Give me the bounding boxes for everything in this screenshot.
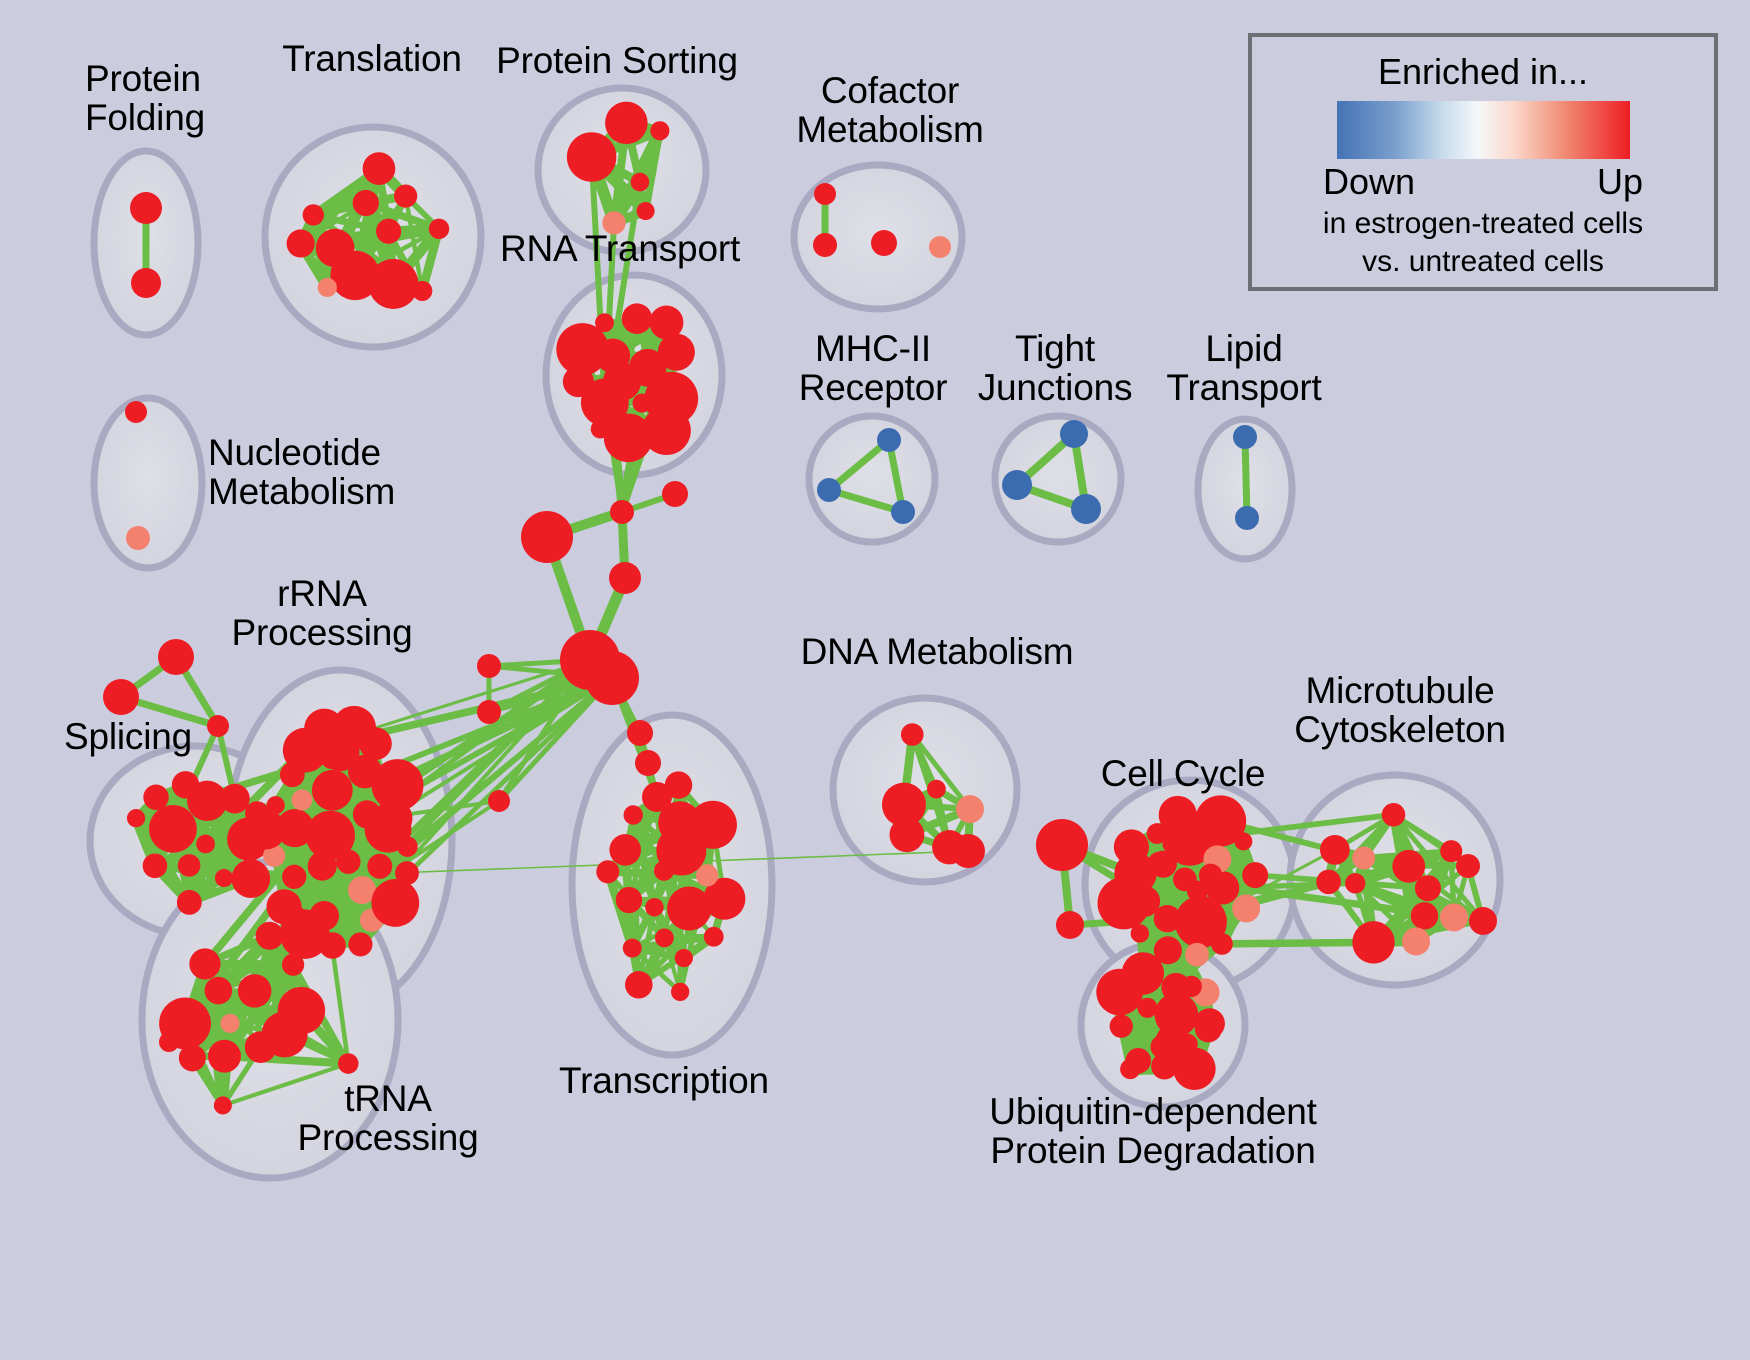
legend-colorbar [1337,101,1630,159]
network-node[interactable] [1155,993,1199,1037]
network-node[interactable] [208,1040,241,1073]
network-node[interactable] [1098,877,1150,929]
cluster-label-rna-transport: RNA Transport [500,230,740,269]
network-node[interactable] [1235,506,1259,530]
network-node[interactable] [642,782,672,812]
network-node[interactable] [1411,902,1438,929]
cluster-label-protein-folding: Protein Folding [85,60,205,138]
network-node[interactable] [130,192,162,224]
cluster-label-nucleotide-metabolism: Nucleotide Metabolism [208,434,395,512]
network-node[interactable] [650,121,669,140]
network-node[interactable] [1242,862,1268,888]
network-node[interactable] [689,801,737,849]
network-node[interactable] [177,890,202,915]
network-node[interactable] [704,927,724,947]
network-edge [1245,437,1247,518]
network-node[interactable] [1177,1034,1198,1055]
cluster-label-splicing: Splicing [64,718,192,757]
network-node[interactable] [214,1096,232,1114]
network-node[interactable] [280,905,308,933]
network-node[interactable] [623,939,642,958]
network-node[interactable] [609,562,641,594]
network-node[interactable] [488,790,510,812]
network-node[interactable] [956,795,984,823]
network-node[interactable] [671,983,689,1001]
cluster-label-protein-sorting: Protein Sorting [496,42,738,81]
cluster-label-dna-metabolism: DNA Metabolism [801,633,1074,672]
network-node[interactable] [1056,911,1084,939]
network-node[interactable] [901,723,924,746]
network-node[interactable] [367,854,392,879]
network-node[interactable] [642,406,691,455]
network-node[interactable] [1194,1008,1225,1039]
network-node[interactable] [655,928,674,947]
network-node[interactable] [1232,894,1260,922]
network-node[interactable] [143,853,168,878]
network-node[interactable] [591,419,610,438]
network-node[interactable] [871,230,897,256]
network-node[interactable] [1382,803,1406,827]
network-node[interactable] [477,700,501,724]
network-node[interactable] [231,859,270,898]
network-node[interactable] [635,750,661,776]
network-node[interactable] [1415,875,1441,901]
network-node[interactable] [365,806,412,853]
network-node[interactable] [1352,921,1394,963]
network-node[interactable] [353,190,379,216]
network-node[interactable] [645,898,663,916]
network-node[interactable] [596,860,619,883]
cluster-label-microtubule-cytoskeleton: Microtubule Cytoskeleton [1294,672,1506,750]
network-node[interactable] [1185,943,1209,967]
network-node[interactable] [1148,852,1171,875]
network-node[interactable] [1469,907,1497,935]
network-node[interactable] [189,948,220,979]
network-node[interactable] [927,780,946,799]
network-node[interactable] [371,879,419,927]
network-node[interactable] [1159,796,1197,834]
network-node[interactable] [1233,425,1257,449]
legend-caption-line2: vs. untreated cells [1252,245,1714,279]
network-node[interactable] [1162,835,1180,853]
network-node[interactable] [1110,1015,1133,1038]
network-node[interactable] [1120,1059,1140,1079]
network-node[interactable] [429,219,449,239]
network-node[interactable] [556,323,608,375]
cluster-label-cofactor-metabolism: Cofactor Metabolism [796,72,983,150]
network-node[interactable] [1320,835,1350,865]
network-node[interactable] [220,1014,239,1033]
network-node[interactable] [603,363,641,401]
network-node[interactable] [143,784,168,809]
network-node[interactable] [291,789,312,810]
network-edge [1222,942,1374,944]
network-node[interactable] [178,854,201,877]
network-node[interactable] [1234,832,1252,850]
network-node[interactable] [616,887,642,913]
cluster-label-mhc-ii-receptor: MHC-II Receptor [799,330,948,408]
network-node[interactable] [813,233,837,257]
network-node[interactable] [1114,829,1149,864]
network-node[interactable] [238,974,272,1008]
network-node[interactable] [316,229,355,268]
network-node[interactable] [394,184,417,207]
network-node[interactable] [149,805,197,853]
network-node[interactable] [610,500,634,524]
network-node[interactable] [1175,896,1227,948]
network-node[interactable] [332,706,376,750]
network-node[interactable] [631,173,650,192]
legend-box: Enriched in... Down Up in estrogen-treat… [1248,33,1718,291]
network-node[interactable] [1402,927,1430,955]
network-node[interactable] [624,805,643,824]
network-node[interactable] [929,236,951,258]
network-node[interactable] [282,954,304,976]
network-node[interactable] [1071,494,1101,524]
network-node[interactable] [246,810,286,850]
cluster-label-rrna-processing: rRNA Processing [231,575,412,653]
network-node[interactable] [256,922,284,950]
network-node[interactable] [158,639,194,675]
network-node[interactable] [1096,969,1143,1016]
network-node[interactable] [622,303,653,334]
network-node[interactable] [187,781,227,821]
network-node[interactable] [125,401,147,423]
cluster-label-lipid-transport: Lipid Transport [1166,330,1321,408]
network-node[interactable] [131,268,161,298]
network-node[interactable] [891,500,915,524]
legend-low-label: Down [1323,161,1415,203]
network-node[interactable] [318,278,337,297]
network-node[interactable] [877,428,901,452]
network-node[interactable] [348,932,372,956]
network-node[interactable] [675,949,693,967]
network-node[interactable] [609,834,641,866]
network-node[interactable] [1060,420,1088,448]
network-node[interactable] [303,204,324,225]
network-node[interactable] [336,850,360,874]
network-node[interactable] [1036,819,1088,871]
cluster-label-trna-processing: tRNA Processing [297,1080,478,1158]
network-node[interactable] [817,478,841,502]
legend-title: Enriched in... [1252,51,1714,93]
network-node[interactable] [521,511,573,563]
network-node[interactable] [196,835,215,854]
network-node[interactable] [1151,1034,1176,1059]
network-node[interactable] [287,229,315,257]
cluster-label-tight-junctions: Tight Junctions [978,330,1133,408]
network-node[interactable] [376,219,401,244]
cluster-label-ubiquitin-protein-degradation: Ubiquitin-dependent Protein Degradation [989,1093,1316,1171]
network-node[interactable] [1180,976,1201,997]
legend-high-label: Up [1597,161,1643,203]
network-node[interactable] [1456,854,1480,878]
cluster-label-transcription: Transcription [559,1062,769,1101]
network-node[interactable] [814,183,836,205]
network-node[interactable] [205,977,233,1005]
network-node[interactable] [1199,864,1222,887]
network-node[interactable] [1345,873,1365,893]
network-node[interactable] [889,817,924,852]
network-node[interactable] [395,861,419,885]
network-node[interactable] [1440,903,1468,931]
network-node[interactable] [179,1044,206,1071]
cluster-label-translation: Translation [282,40,461,79]
network-node[interactable] [412,281,432,301]
network-node[interactable] [585,651,639,705]
network-node[interactable] [1352,847,1375,870]
network-node[interactable] [126,526,150,550]
network-node[interactable] [951,834,985,868]
network-node[interactable] [1002,470,1032,500]
network-node[interactable] [1316,870,1341,895]
network-node[interactable] [477,654,501,678]
network-node[interactable] [363,152,396,185]
network-node[interactable] [605,102,648,145]
cluster-label-cell-cycle: Cell Cycle [1101,755,1266,794]
network-node[interactable] [637,202,655,220]
network-node[interactable] [627,720,653,746]
network-node[interactable] [280,762,305,787]
network-node[interactable] [215,869,233,887]
network-node[interactable] [103,679,139,715]
network-node[interactable] [320,747,342,769]
network-node[interactable] [312,770,353,811]
network-node[interactable] [567,132,617,182]
network-node[interactable] [649,306,683,340]
network-node[interactable] [278,987,325,1034]
enrichment-map-figure: Protein FoldingTranslationProtein Sortin… [0,0,1750,1360]
network-node[interactable] [338,1053,359,1074]
network-node[interactable] [625,971,653,999]
network-node[interactable] [207,715,229,737]
legend-caption-line1: in estrogen-treated cells [1252,207,1714,241]
network-node[interactable] [662,481,688,507]
network-node[interactable] [159,1032,179,1052]
network-node[interactable] [308,851,337,880]
network-node[interactable] [127,809,145,827]
network-node[interactable] [282,865,306,889]
